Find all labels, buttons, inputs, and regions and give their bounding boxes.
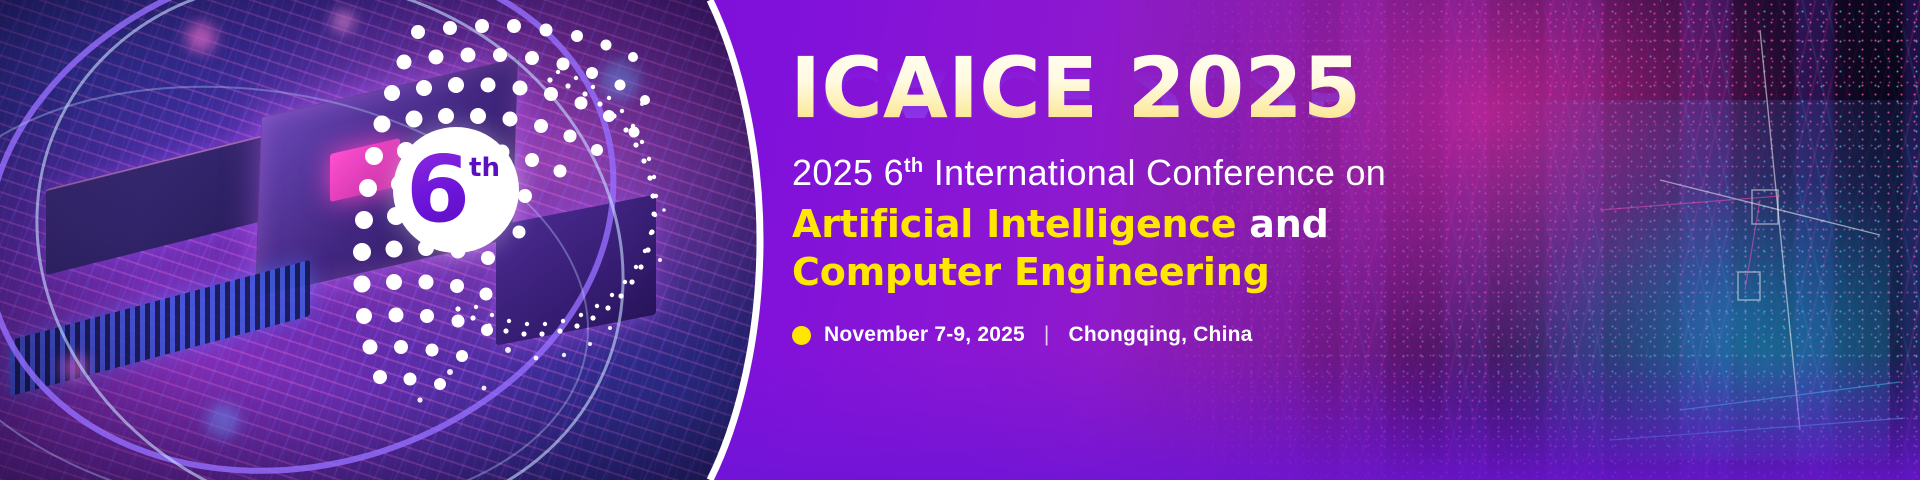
- event-date: November 7-9, 2025: [824, 323, 1025, 347]
- conference-banner: 6 th ICAICE 2025 ICAICE 2025 2025 6th In…: [0, 0, 1920, 480]
- subtitle-prefix: 2025 6: [792, 152, 904, 193]
- event-meta: November 7-9, 2025 | Chongqing, China: [792, 323, 1253, 347]
- meta-separator: |: [1038, 323, 1056, 347]
- conference-subtitle: 2025 6th International Conference on: [792, 152, 1386, 194]
- bullet-dot-icon: [792, 326, 811, 345]
- topic-line-1: Artificial Intelligence and: [792, 202, 1329, 246]
- event-location: Chongqing, China: [1069, 323, 1253, 347]
- banner-text-block: ICAICE 2025 ICAICE 2025 2025 6th Interna…: [790, 0, 1850, 480]
- anniversary-badge-icon: 6 th: [393, 127, 519, 253]
- subtitle-ordinal: th: [904, 155, 923, 177]
- badge-ordinal: th: [469, 153, 500, 183]
- main-title: ICAICE 2025: [790, 46, 1361, 130]
- topic-ai: Artificial Intelligence: [792, 202, 1236, 246]
- topic-line-2: Computer Engineering: [792, 250, 1270, 294]
- topic-ce: Computer Engineering: [792, 250, 1270, 294]
- badge-number: 6: [406, 149, 468, 232]
- subtitle-rest: International Conference on: [923, 152, 1386, 193]
- topic-conjunction: and: [1236, 202, 1328, 246]
